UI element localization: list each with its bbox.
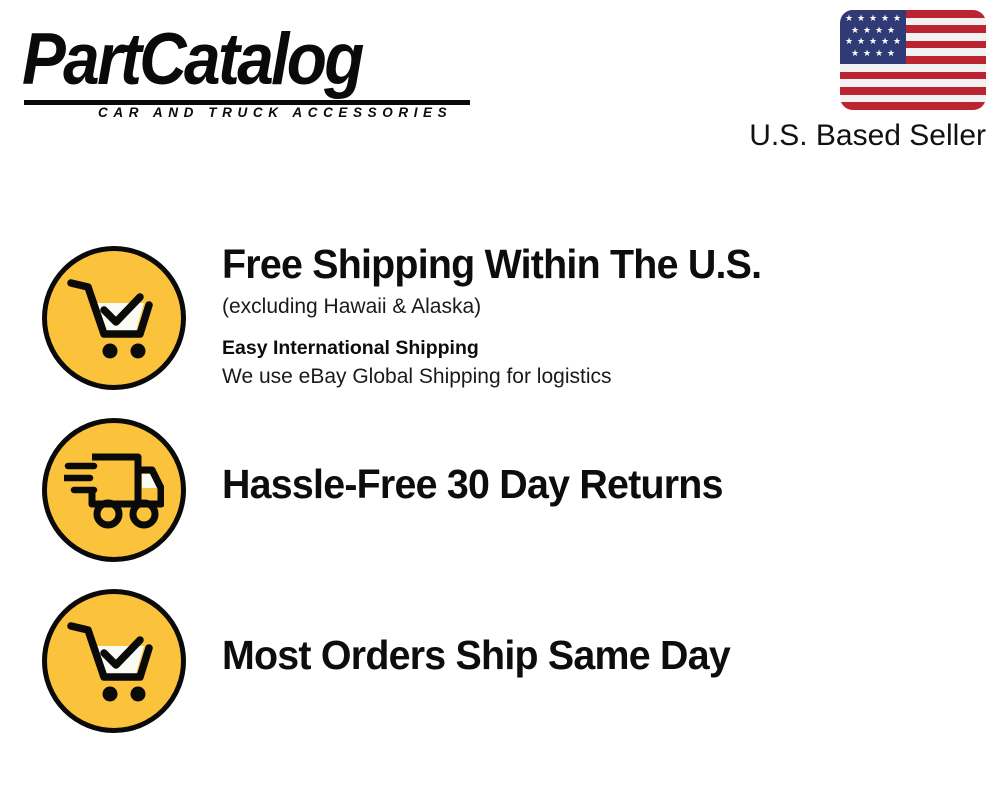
flag-stripe (840, 87, 986, 95)
page-header: PartCatalog CAR AND TRUCK ACCESSORIES ★ … (0, 0, 1000, 165)
feature-text-block: Most Orders Ship Same Day (222, 631, 962, 679)
page-title: Free Shipping Within The U.S. (222, 240, 932, 288)
flag-star-icon: ★ (875, 50, 883, 59)
feature-text-block: Free Shipping Within The U.S. (excluding… (222, 240, 962, 392)
delivery-truck-icon (42, 418, 186, 562)
flag-stripe (840, 102, 986, 110)
list-item: Hassle-Free 30 Day Returns (0, 412, 1000, 582)
flag-star-icon: ★ (869, 38, 877, 47)
flag-stripe (840, 64, 986, 72)
flag-star-icon: ★ (893, 38, 901, 47)
flag-star-icon: ★ (857, 38, 865, 47)
shopping-cart-check-icon (42, 589, 186, 733)
us-based-seller-label: U.S. Based Seller (749, 118, 986, 154)
list-item: Most Orders Ship Same Day (0, 583, 1000, 753)
page-title: Hassle-Free 30 Day Returns (222, 460, 932, 508)
flag-star-icon: ★ (851, 50, 859, 59)
flag-stripe (840, 95, 986, 103)
flag-star-icon: ★ (881, 15, 889, 24)
brand-tagline: CAR AND TRUCK ACCESSORIES (98, 104, 452, 122)
flag-star-icon: ★ (875, 27, 883, 36)
flag-star-icon: ★ (887, 27, 895, 36)
brand-logo[interactable]: PartCatalog CAR AND TRUCK ACCESSORIES (22, 18, 492, 118)
flag-star-icon: ★ (845, 38, 853, 47)
flag-star-icon: ★ (887, 50, 895, 59)
flag-star-icon: ★ (857, 15, 865, 24)
feature-text-block: Hassle-Free 30 Day Returns (222, 460, 962, 508)
flag-stripe (840, 79, 986, 87)
feature-subtext: We use eBay Global Shipping for logistic… (222, 362, 962, 392)
feature-subheading: Easy International Shipping (222, 334, 962, 362)
list-item: Free Shipping Within The U.S. (excluding… (0, 240, 1000, 410)
flag-star-icon: ★ (851, 27, 859, 36)
flag-star-icon: ★ (863, 50, 871, 59)
flag-star-icon: ★ (893, 15, 901, 24)
flag-star-icon: ★ (863, 27, 871, 36)
flag-star-icon: ★ (845, 15, 853, 24)
us-flag-icon: ★ ★ ★ ★ ★ ★ ★ ★ ★ ★ ★ ★ ★ ★ ★ ★ ★ ★ (840, 10, 986, 110)
flag-canton: ★ ★ ★ ★ ★ ★ ★ ★ ★ ★ ★ ★ ★ ★ ★ ★ ★ ★ (840, 10, 906, 64)
flag-stripe (840, 72, 986, 80)
flag-star-icon: ★ (869, 15, 877, 24)
shopping-cart-check-icon (42, 246, 186, 390)
flag-star-icon: ★ (881, 38, 889, 47)
page-title: Most Orders Ship Same Day (222, 631, 932, 679)
brand-wordmark: PartCatalog (22, 18, 362, 103)
feature-note: (excluding Hawaii & Alaska) (222, 292, 962, 322)
